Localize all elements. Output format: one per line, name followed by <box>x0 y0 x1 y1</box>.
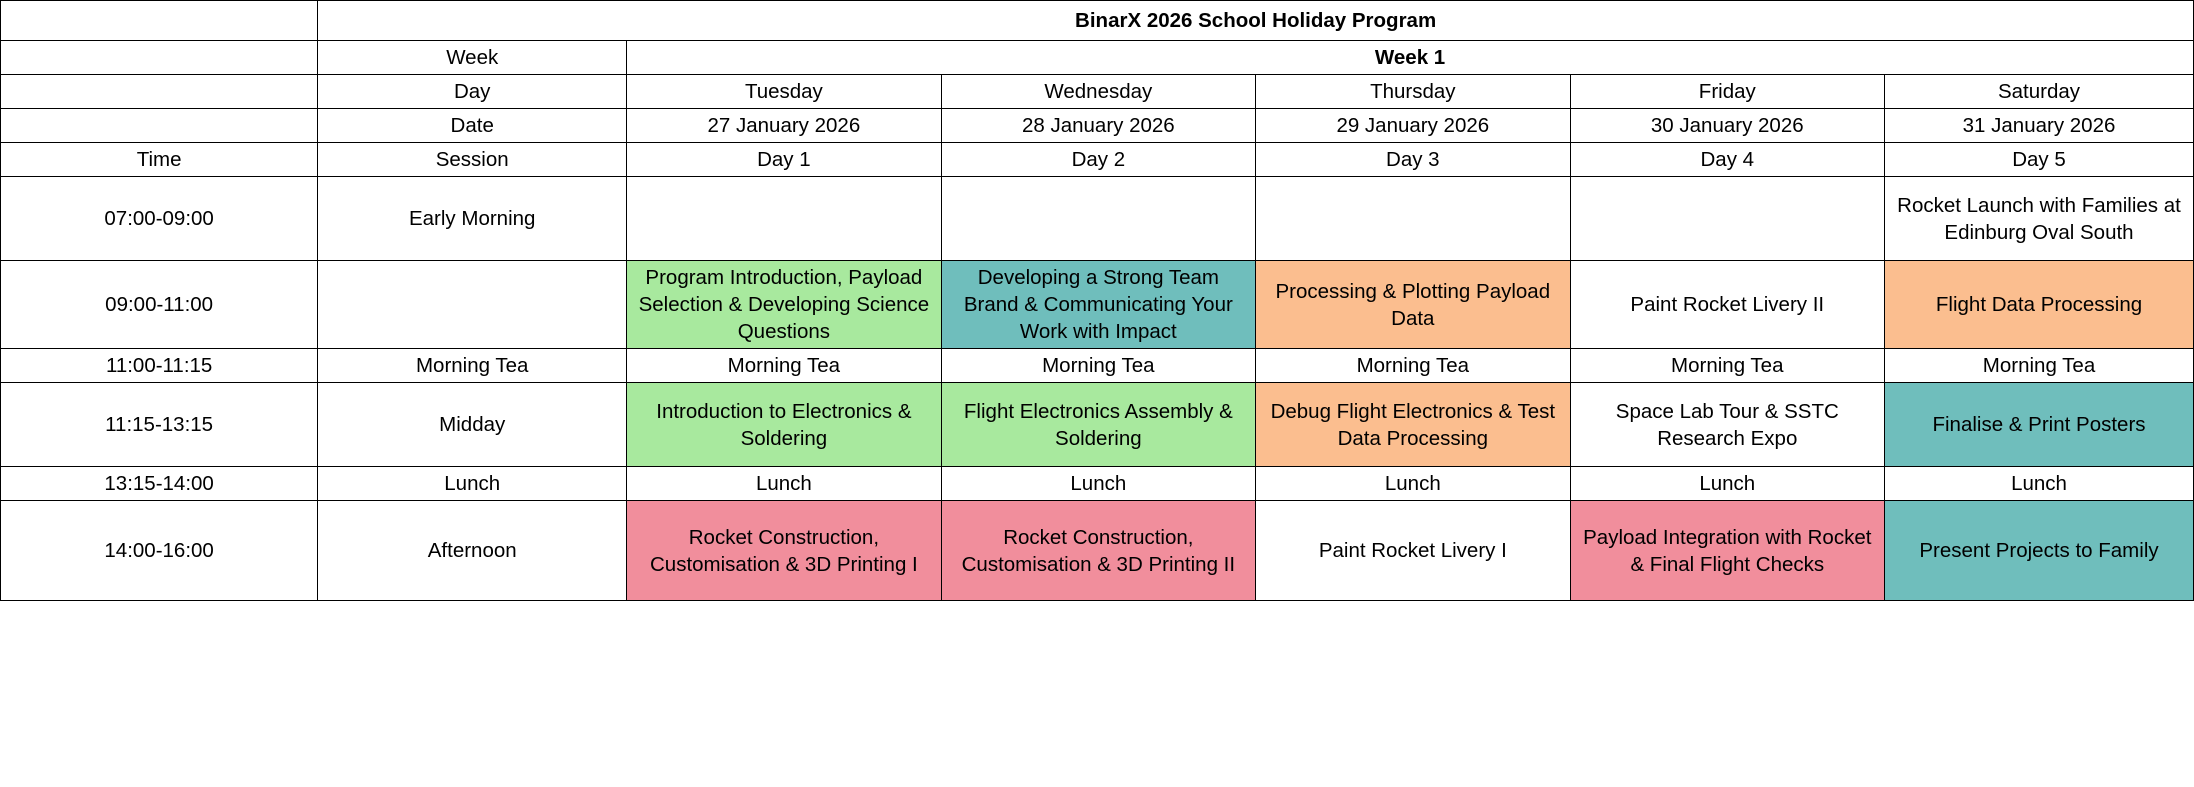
activity-cell: Lunch <box>1256 467 1570 501</box>
day-label: Day <box>318 75 627 109</box>
date-row: Date27 January 202628 January 202629 Jan… <box>1 109 2194 143</box>
date-row-spacer <box>1 109 318 143</box>
activity-cell: Morning Tea <box>1256 349 1570 383</box>
time-slot: 11:15-13:15 <box>1 383 318 467</box>
activity-cell <box>627 177 941 261</box>
activity-cell: Morning Tea <box>941 349 1255 383</box>
day-row-spacer <box>1 75 318 109</box>
activity-cell <box>1256 177 1570 261</box>
activity-cell: Paint Rocket Livery II <box>1570 261 1884 349</box>
date-header-3: 29 January 2026 <box>1256 109 1570 143</box>
session-name: Midday <box>318 383 627 467</box>
activity-cell: Present Projects to Family <box>1885 501 2194 601</box>
activity-cell: Debug Flight Electronics & Test Data Pro… <box>1256 383 1570 467</box>
day-header-3: Thursday <box>1256 75 1570 109</box>
activity-cell: Paint Rocket Livery I <box>1256 501 1570 601</box>
week-row: WeekWeek 1 <box>1 41 2194 75</box>
activity-cell: Developing a Strong Team Brand & Communi… <box>941 261 1255 349</box>
activity-cell: Lunch <box>941 467 1255 501</box>
schedule-row: 13:15-14:00LunchLunchLunchLunchLunchLunc… <box>1 467 2194 501</box>
activity-cell: Rocket Construction, Customisation & 3D … <box>941 501 1255 601</box>
day-header-4: Friday <box>1570 75 1884 109</box>
schedule-row: 09:00-11:00Program Introduction, Payload… <box>1 261 2194 349</box>
title-row: BinarX 2026 School Holiday Program <box>1 1 2194 41</box>
date-header-4: 30 January 2026 <box>1570 109 1884 143</box>
activity-cell: Flight Electronics Assembly & Soldering <box>941 383 1255 467</box>
session-label: Session <box>318 143 627 177</box>
activity-cell: Finalise & Print Posters <box>1885 383 2194 467</box>
time-slot: 11:00-11:15 <box>1 349 318 383</box>
day-number-4: Day 4 <box>1570 143 1884 177</box>
date-header-1: 27 January 2026 <box>627 109 941 143</box>
date-header-5: 31 January 2026 <box>1885 109 2194 143</box>
activity-cell: Payload Integration with Rocket & Final … <box>1570 501 1884 601</box>
day-number-3: Day 3 <box>1256 143 1570 177</box>
activity-cell: Introduction to Electronics & Soldering <box>627 383 941 467</box>
session-header-row: TimeSessionDay 1Day 2Day 3Day 4Day 5 <box>1 143 2194 177</box>
day-number-2: Day 2 <box>941 143 1255 177</box>
activity-cell: Lunch <box>627 467 941 501</box>
activity-cell: Space Lab Tour & SSTC Research Expo <box>1570 383 1884 467</box>
session-name: Afternoon <box>318 501 627 601</box>
activity-cell: Processing & Plotting Payload Data <box>1256 261 1570 349</box>
activity-cell: Morning Tea <box>627 349 941 383</box>
time-label: Time <box>1 143 318 177</box>
day-number-1: Day 1 <box>627 143 941 177</box>
day-header-1: Tuesday <box>627 75 941 109</box>
time-slot: 13:15-14:00 <box>1 467 318 501</box>
schedule-row: 14:00-16:00AfternoonRocket Construction,… <box>1 501 2194 601</box>
day-header-2: Wednesday <box>941 75 1255 109</box>
activity-cell: Rocket Construction, Customisation & 3D … <box>627 501 941 601</box>
activity-cell: Lunch <box>1885 467 2194 501</box>
activity-cell: Lunch <box>1570 467 1884 501</box>
schedule-row: 11:15-13:15MiddayIntroduction to Electro… <box>1 383 2194 467</box>
activity-cell: Program Introduction, Payload Selection … <box>627 261 941 349</box>
program-schedule-table: BinarX 2026 School Holiday ProgramWeekWe… <box>0 0 2194 601</box>
date-header-2: 28 January 2026 <box>941 109 1255 143</box>
activity-cell <box>941 177 1255 261</box>
page-title: BinarX 2026 School Holiday Program <box>318 1 2194 41</box>
time-slot: 09:00-11:00 <box>1 261 318 349</box>
activity-cell: Morning Tea <box>1885 349 2194 383</box>
activity-cell: Morning Tea <box>1570 349 1884 383</box>
week-value: Week 1 <box>627 41 2194 75</box>
session-name: Lunch <box>318 467 627 501</box>
time-slot: 14:00-16:00 <box>1 501 318 601</box>
activity-cell: Rocket Launch with Families at Edinburg … <box>1885 177 2194 261</box>
week-row-spacer <box>1 41 318 75</box>
activity-cell <box>1570 177 1884 261</box>
date-label: Date <box>318 109 627 143</box>
day-row: DayTuesdayWednesdayThursdayFridaySaturda… <box>1 75 2194 109</box>
session-name: Morning Tea <box>318 349 627 383</box>
activity-cell: Flight Data Processing <box>1885 261 2194 349</box>
schedule-row: 11:00-11:15Morning TeaMorning TeaMorning… <box>1 349 2194 383</box>
session-name: Early Morning <box>318 177 627 261</box>
title-row-spacer <box>1 1 318 41</box>
day-number-5: Day 5 <box>1885 143 2194 177</box>
time-slot: 07:00-09:00 <box>1 177 318 261</box>
schedule-row: 07:00-09:00Early MorningRocket Launch wi… <box>1 177 2194 261</box>
session-name <box>318 261 627 349</box>
day-header-5: Saturday <box>1885 75 2194 109</box>
week-label: Week <box>318 41 627 75</box>
